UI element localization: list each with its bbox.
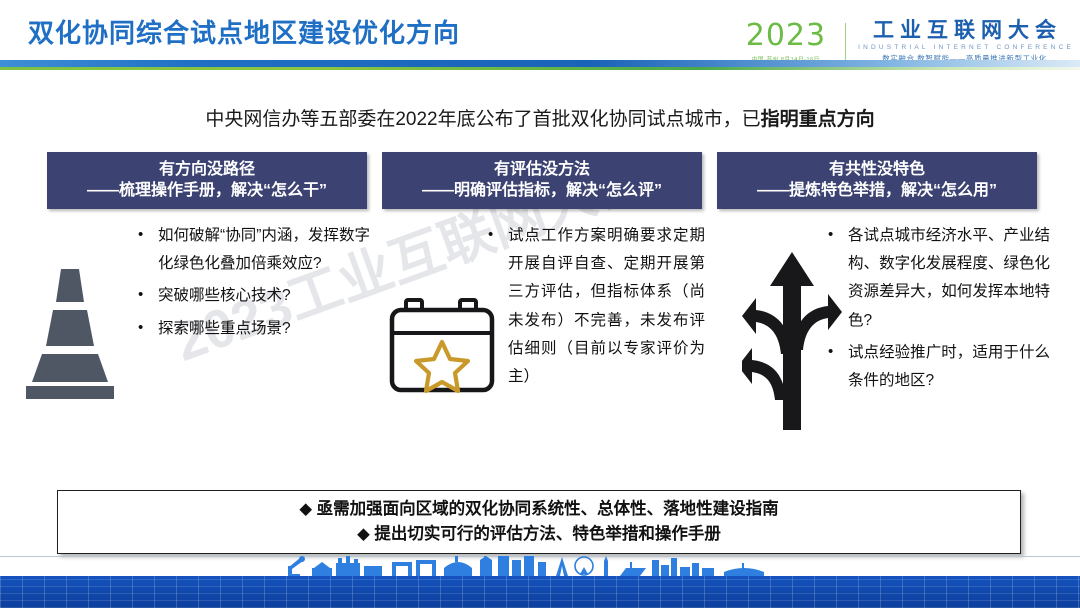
column-header-line1: 有方向没路径 <box>47 160 367 180</box>
list-item: 如何破解“协同”内涵，发挥数字化绿色化叠加倍乘效应? <box>130 222 370 278</box>
page-title: 双化协同综合试点地区建设优化方向 <box>28 13 460 50</box>
subtitle-bold: 指明重点方向 <box>761 109 875 130</box>
column-header-line2: ——提炼特色举措，解决“怎么用” <box>717 181 1037 201</box>
column-header-bar-1: 有方向没路径 ——梳理操作手册，解决“怎么干” <box>47 152 367 209</box>
callout-line: ◆ 提出切实可行的评估方法、特色举措和操作手册 <box>357 522 721 547</box>
column-header-line1: 有评估没方法 <box>382 160 702 180</box>
list-item: 试点工作方案明确要求定期开展自评自查、定期开展第三方评估，但指标体系（尚未发布）… <box>480 222 705 391</box>
header-rule <box>0 60 1080 74</box>
subtitle: 中央网信办等五部委在2022年底公布了首批双化协同试点城市，已指明重点方向 <box>0 104 1080 131</box>
column-header-bar-3: 有共性没特色 ——提炼特色举措，解决“怎么用” <box>717 152 1037 209</box>
column-header-line1: 有共性没特色 <box>717 160 1037 180</box>
bullet-list-3: 各试点城市经济水平、产业结构、数字化发展程度、绿色化资源差异大，如何发挥本地特色… <box>820 222 1050 395</box>
slide-header: 双化协同综合试点地区建设优化方向 2023 中国·苏州 8月14日-16日 工业… <box>0 0 1080 92</box>
logo-conference-en: INDUSTRIAL INTERNET CONFERENCE <box>855 44 1074 51</box>
header-rule-blue <box>0 60 1080 67</box>
column-body-3: 各试点城市经济水平、产业结构、数字化发展程度、绿色化资源差异大，如何发挥本地特色… <box>820 222 1050 399</box>
column-header-line2: ——梳理操作手册，解决“怎么干” <box>47 181 367 201</box>
list-item: 各试点城市经济水平、产业结构、数字化发展程度、绿色化资源差异大，如何发挥本地特色… <box>820 222 1050 335</box>
header-rule-green <box>0 67 1080 70</box>
list-item: 探索哪些重点场景? <box>130 315 370 343</box>
summary-callout: ◆ 亟需加强面向区域的双化协同系统性、总体性、落地性建设指南 ◆ 提出切实可行的… <box>57 490 1021 554</box>
logo-year-text: 2023 <box>746 21 826 51</box>
slide-footer <box>0 556 1080 608</box>
slide-root: 双化协同综合试点地区建设优化方向 2023 中国·苏州 8月14日-16日 工业… <box>0 0 1080 608</box>
column-header-line2: ——明确评估指标，解决“怎么评” <box>382 181 702 201</box>
list-item: 突破哪些核心技术? <box>130 282 370 310</box>
logo-year-block: 2023 中国·苏州 8月14日-16日 <box>746 21 836 63</box>
callout-line: ◆ 亟需加强面向区域的双化协同系统性、总体性、落地性建设指南 <box>299 497 778 522</box>
column-body-2: 试点工作方案明确要求定期开展自评自查、定期开展第三方评估，但指标体系（尚未发布）… <box>480 222 705 395</box>
logo-name-block: 工业互联网大会 INDUSTRIAL INTERNET CONFERENCE 数… <box>855 20 1074 64</box>
column-header-bar-2: 有评估没方法 ——明确评估指标，解决“怎么评” <box>382 152 702 209</box>
city-skyline-graphic <box>0 556 1080 578</box>
bullet-list-2: 试点工作方案明确要求定期开展自评自查、定期开展第三方评估，但指标体系（尚未发布）… <box>480 222 705 391</box>
logo-divider <box>845 23 846 61</box>
logo-conference-cn: 工业互联网大会 <box>867 20 1062 42</box>
column-body-1: 如何破解“协同”内涵，发挥数字化绿色化叠加倍乘效应? 突破哪些核心技术? 探索哪… <box>20 222 370 404</box>
list-item: 试点经验推广时，适用于什么条件的地区? <box>820 339 1050 395</box>
traffic-cone-icon <box>20 222 130 404</box>
bullet-list-1: 如何破解“协同”内涵，发挥数字化绿色化叠加倍乘效应? 突破哪些核心技术? 探索哪… <box>130 222 370 343</box>
footer-grid-band <box>0 576 1080 608</box>
subtitle-normal: 中央网信办等五部委在2022年底公布了首批双化协同试点城市，已 <box>205 109 760 130</box>
